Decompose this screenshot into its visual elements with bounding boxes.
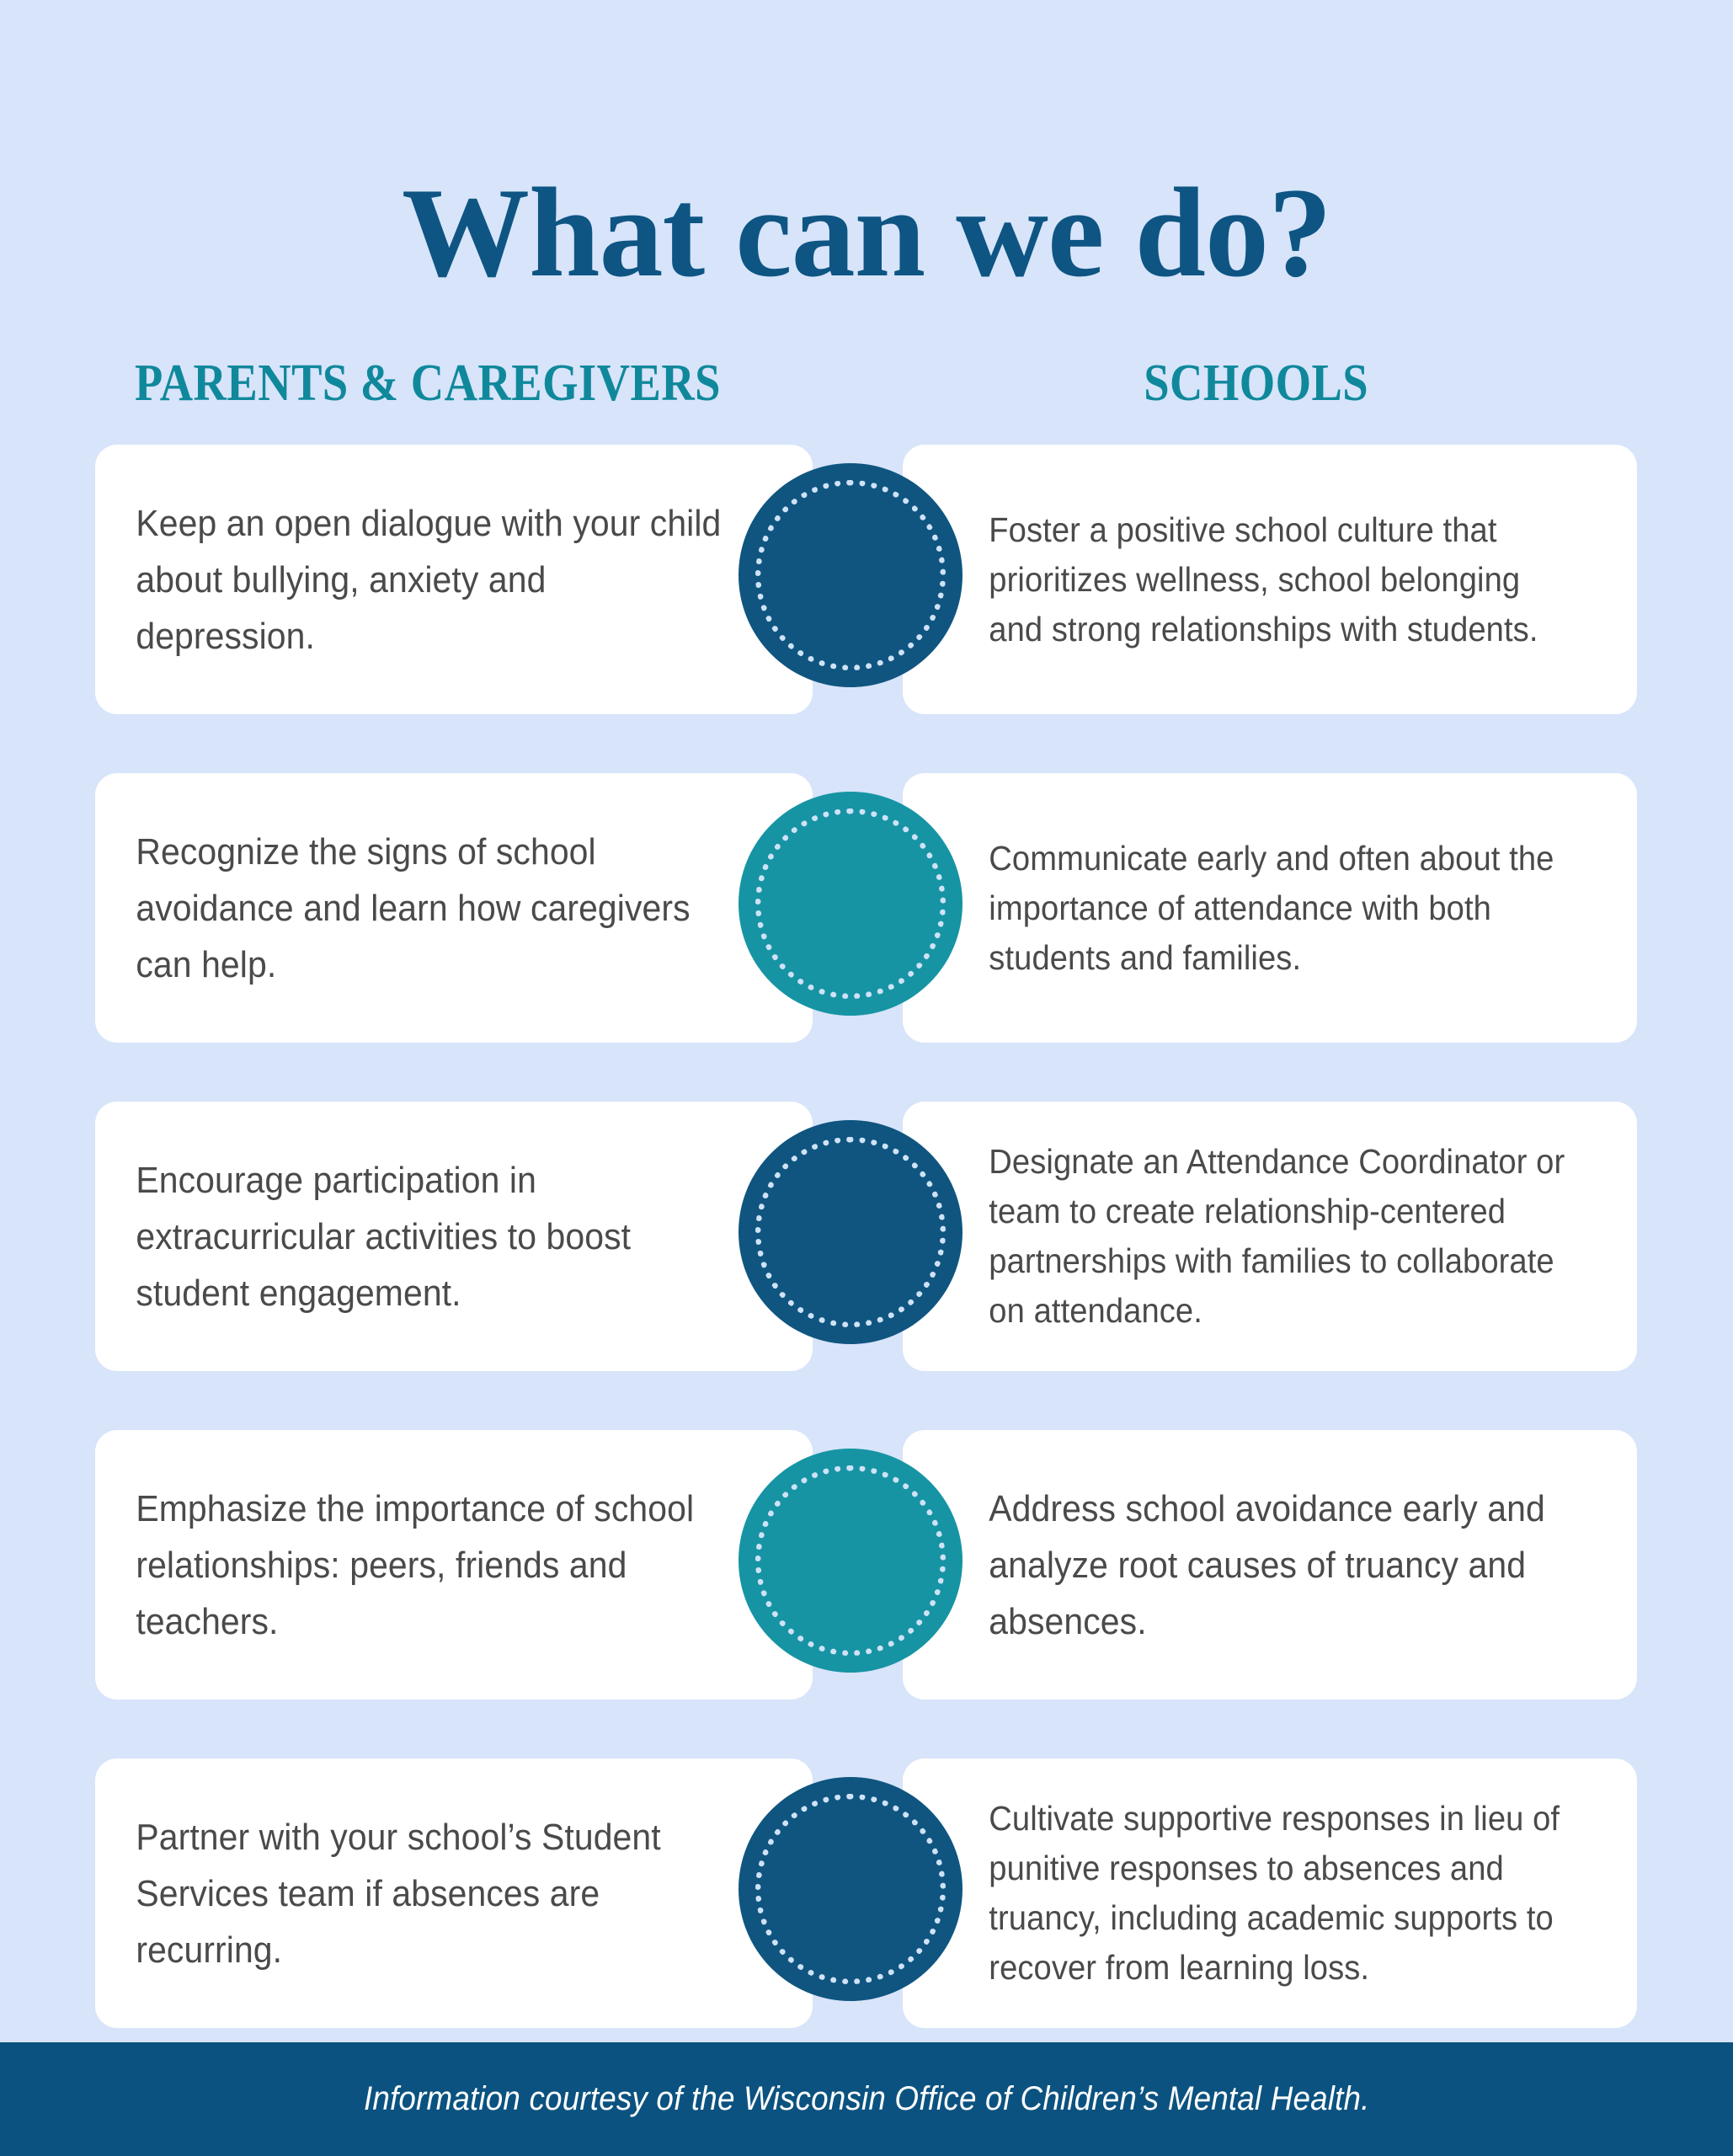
advice-row: Recognize the signs of school avoidance … xyxy=(0,773,1733,1059)
infographic-page: What can we do? PARENTS & CAREGIVERS SCH… xyxy=(0,0,1733,2156)
dotted-ring-icon xyxy=(755,1137,946,1327)
parents-card: Emphasize the importance of school relat… xyxy=(95,1430,813,1700)
parents-card: Recognize the signs of school avoidance … xyxy=(95,773,813,1043)
parents-card-text: Partner with your school’s Student Servi… xyxy=(95,1809,745,1978)
row-divider-circle-navy xyxy=(739,1777,962,2001)
dotted-ring-icon xyxy=(755,1465,946,1656)
advice-row: Encourage participation in extracurricul… xyxy=(0,1102,1733,1388)
parents-card: Keep an open dialogue with your child ab… xyxy=(95,445,813,714)
dotted-ring-icon xyxy=(755,480,946,670)
row-divider-circle-teal xyxy=(739,792,962,1016)
footer-attribution: Information courtesy of the Wisconsin Of… xyxy=(364,2080,1370,2118)
footer-bar: Information courtesy of the Wisconsin Of… xyxy=(0,2042,1733,2156)
schools-card: Designate an Attendance Coordinator or t… xyxy=(903,1102,1637,1371)
schools-card: Address school avoidance early and analy… xyxy=(903,1430,1637,1700)
dotted-ring-icon xyxy=(755,808,946,999)
parents-card: Encourage participation in extracurricul… xyxy=(95,1102,813,1371)
schools-card-text: Cultivate supportive responses in lieu o… xyxy=(903,1794,1586,1993)
row-divider-circle-navy xyxy=(739,1120,962,1344)
column-header-parents: PARENTS & CAREGIVERS xyxy=(135,354,721,413)
row-divider-circle-teal xyxy=(739,1449,962,1673)
advice-row: Keep an open dialogue with your child ab… xyxy=(0,445,1733,731)
schools-card: Cultivate supportive responses in lieu o… xyxy=(903,1758,1637,2028)
schools-card-text: Address school avoidance early and analy… xyxy=(903,1481,1586,1650)
parents-card-text: Emphasize the importance of school relat… xyxy=(95,1481,745,1650)
dotted-ring-icon xyxy=(755,1794,946,1984)
advice-row: Emphasize the importance of school relat… xyxy=(0,1430,1733,1716)
column-headers: PARENTS & CAREGIVERS SCHOOLS xyxy=(0,354,1733,421)
advice-rows: Keep an open dialogue with your child ab… xyxy=(0,445,1733,2087)
schools-card: Foster a positive school culture that pr… xyxy=(903,445,1637,714)
schools-card: Communicate early and often about the im… xyxy=(903,773,1637,1043)
parents-card-text: Recognize the signs of school avoidance … xyxy=(95,824,745,993)
schools-card-text: Designate an Attendance Coordinator or t… xyxy=(903,1137,1586,1336)
parents-card: Partner with your school’s Student Servi… xyxy=(95,1758,813,2028)
page-title: What can we do? xyxy=(0,168,1733,296)
row-divider-circle-navy xyxy=(739,463,962,687)
parents-card-text: Keep an open dialogue with your child ab… xyxy=(95,495,745,664)
column-header-schools: SCHOOLS xyxy=(1144,354,1368,413)
parents-card-text: Encourage participation in extracurricul… xyxy=(95,1152,745,1321)
schools-card-text: Communicate early and often about the im… xyxy=(903,834,1586,983)
schools-card-text: Foster a positive school culture that pr… xyxy=(903,505,1586,654)
advice-row: Partner with your school’s Student Servi… xyxy=(0,1758,1733,2045)
